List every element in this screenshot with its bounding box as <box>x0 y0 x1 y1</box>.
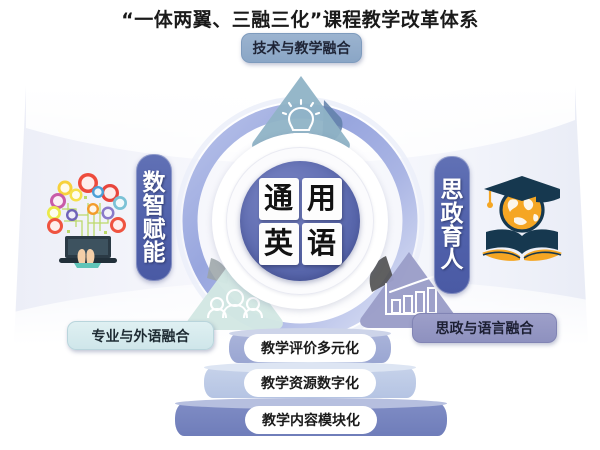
core-char-1: 通 <box>259 178 299 220</box>
core-char-3: 英 <box>259 223 299 265</box>
step-2-label: 教学资源数字化 <box>244 369 376 397</box>
laptop-tech-icons-illustration <box>38 163 138 268</box>
core-char-2: 用 <box>302 178 342 220</box>
step-1-label: 教学评价多元化 <box>244 334 376 362</box>
laptop-icon <box>59 236 117 268</box>
step-2[interactable]: 教学资源数字化 <box>204 367 416 398</box>
wing-right-char-4: 人 <box>441 248 464 271</box>
wing-left-char-4: 能 <box>143 241 166 264</box>
wing-label-right[interactable]: 思 政 育 人 <box>434 156 470 294</box>
fusion-tag-top[interactable]: 技术与教学融合 <box>241 33 362 63</box>
wing-left-char-1: 数 <box>143 171 166 194</box>
wing-right-char-2: 政 <box>441 202 464 225</box>
diagram-canvas: “一体两翼、三融三化”课程教学改革体系 <box>0 0 600 450</box>
core-char-4: 语 <box>302 223 342 265</box>
wing-left-char-2: 智 <box>143 194 166 217</box>
wing-left-char-3: 赋 <box>143 218 166 241</box>
fusion-tag-right[interactable]: 思政与语言融合 <box>412 313 557 343</box>
wing-label-left[interactable]: 数 智 赋 能 <box>136 154 172 281</box>
step-3-label: 教学内容模块化 <box>245 406 377 434</box>
core-label: 通 用 英 语 <box>240 161 360 281</box>
step-1[interactable]: 教学评价多元化 <box>229 333 391 363</box>
step-3[interactable]: 教学内容模块化 <box>175 403 447 436</box>
wing-right-char-3: 育 <box>441 225 464 248</box>
graduation-cap-globe-book-illustration <box>474 168 570 266</box>
wing-right-char-1: 思 <box>441 178 464 201</box>
open-book-icon <box>482 229 562 261</box>
fusion-tag-left[interactable]: 专业与外语融合 <box>67 321 214 350</box>
